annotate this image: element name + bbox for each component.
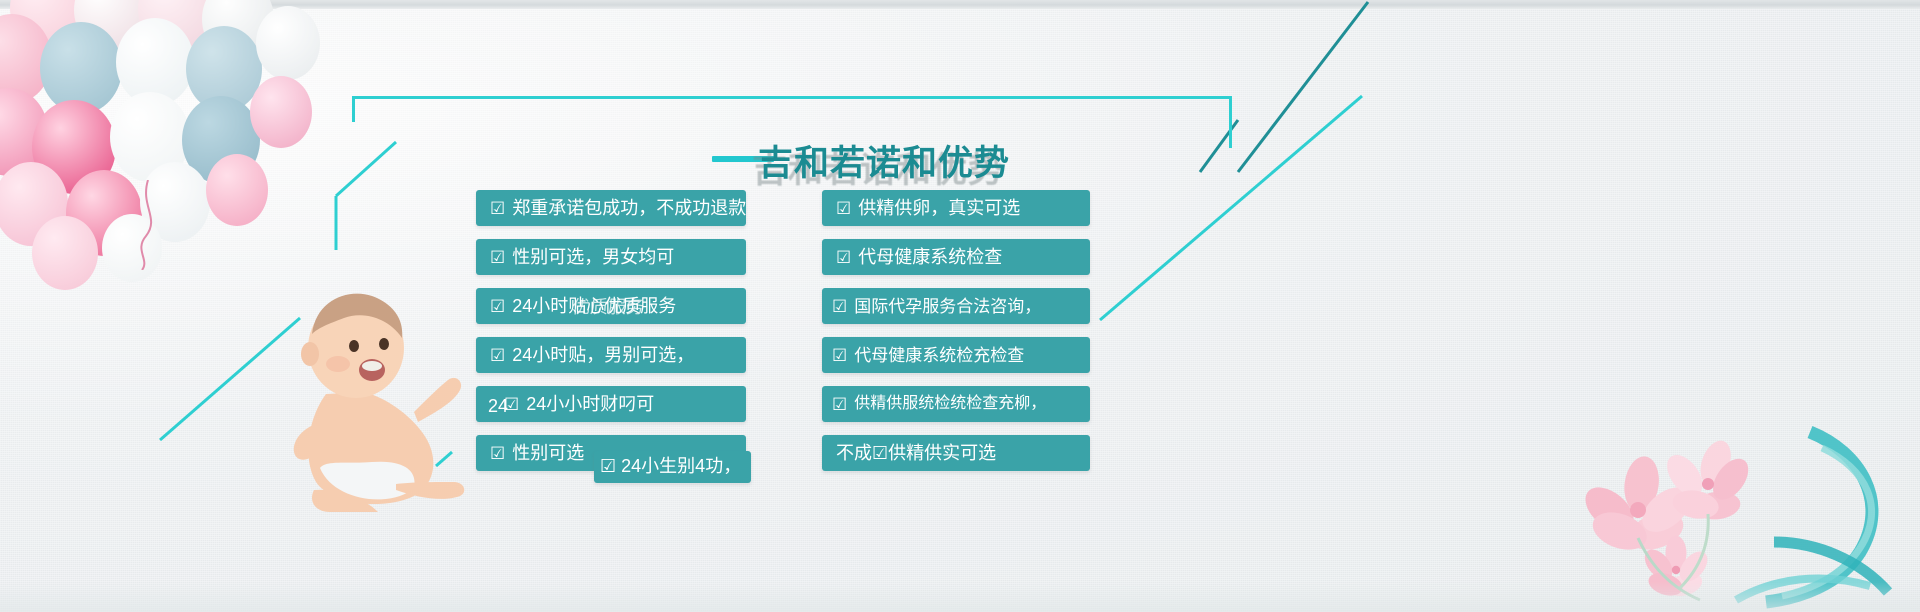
list-item-label: 24小时贴心优质服务 [512,297,676,315]
list-item-label: 24小小时财叼可 [526,395,654,413]
list-item[interactable]: ☑ 供精供卵，真实可选 [822,190,1090,226]
list-item[interactable]: ☑ 24小时贴，男别可选， [476,337,746,373]
checkbox-icon: ☑ [504,396,519,413]
list-item[interactable]: ☑ 24小时贴心优质服务 优质服务 [476,288,746,324]
list-item[interactable]: ☑ 代母健康系统检充检查 [822,337,1090,373]
checkbox-icon: ☑ [490,200,505,217]
list-item[interactable]: ☑ 代母健康系统检查 [822,239,1090,275]
section-title: 吉和若诺和优势 吉和若诺和优势 [712,133,1232,185]
list-item-label: 代母健康系统检查 [858,248,1002,266]
list-item-label: 性别可选，男女均可 [512,248,674,266]
checkbox-icon: ☑ [832,396,847,413]
list-item[interactable]: ☑ 郑重承诺包成功，不成功退款 [476,190,746,226]
list-item-label: 不成☑供精供实可选 [836,444,996,462]
list-item[interactable]: ☑ 性别可选 ☑ 24小生别4功， [476,435,746,471]
checkbox-icon: ☑ [832,347,847,364]
flower-ribbon-decoration [1560,392,1920,612]
list-item[interactable]: 24 ☑ 24小小时财叼可 [476,386,746,422]
checkbox-icon: ☑ [490,249,505,266]
list-item[interactable]: ☑ 国际代孕服务合法咨询， [822,288,1090,324]
checkbox-icon: ☑ [490,298,505,315]
frame-line-top [352,96,1232,99]
checkbox-icon: ☑ [490,347,505,364]
bottom-fade [0,582,1920,612]
feature-list-left: ☑ 郑重承诺包成功，不成功退款 ☑ 性别可选，男女均可 ☑ 24小时贴心优质服务… [476,190,746,484]
list-item-label: 供精供服统检统检查充柳， [854,396,1046,412]
list-item-label: 国际代孕服务合法咨询， [854,298,1041,315]
list-item-label: 性别可选 [512,444,584,462]
checkbox-icon: ☑ [836,249,851,266]
list-item-label: 24小时贴，男别可选， [512,346,694,364]
checkbox-icon: ☑ [490,445,505,462]
list-item-label: 供精供卵，真实可选 [858,199,1020,217]
list-item[interactable]: 不成☑供精供实可选 [822,435,1090,471]
checkbox-icon: ☑ [836,200,851,217]
baby-photo [268,262,478,512]
balloon-string [120,180,180,270]
list-item[interactable]: ☑ 性别可选，男女均可 [476,239,746,275]
checkbox-icon: ☑ [832,298,847,315]
list-item-label: 郑重承诺包成功，不成功退款 [512,199,746,217]
page-background: 吉和若诺和优势 吉和若诺和优势 ☑ 郑重承诺包成功，不成功退款 ☑ 性别可选，男… [0,0,1920,612]
page-title: 吉和若诺和优势 [758,135,1010,186]
list-item-ghost-text: 24小生别4功， [621,456,741,476]
list-item-ghost-label: ☑ 24小生别4功， [594,451,751,483]
checkbox-icon: ☑ [600,456,616,476]
feature-list-right: ☑ 供精供卵，真实可选 ☑ 代母健康系统检查 ☑ 国际代孕服务合法咨询， ☑ 代… [822,190,1090,484]
list-item[interactable]: ☑ 供精供服统检统检查充柳， [822,386,1090,422]
list-item-label: 代母健康系统检充检查 [854,347,1024,364]
balloon-cluster [0,0,370,296]
